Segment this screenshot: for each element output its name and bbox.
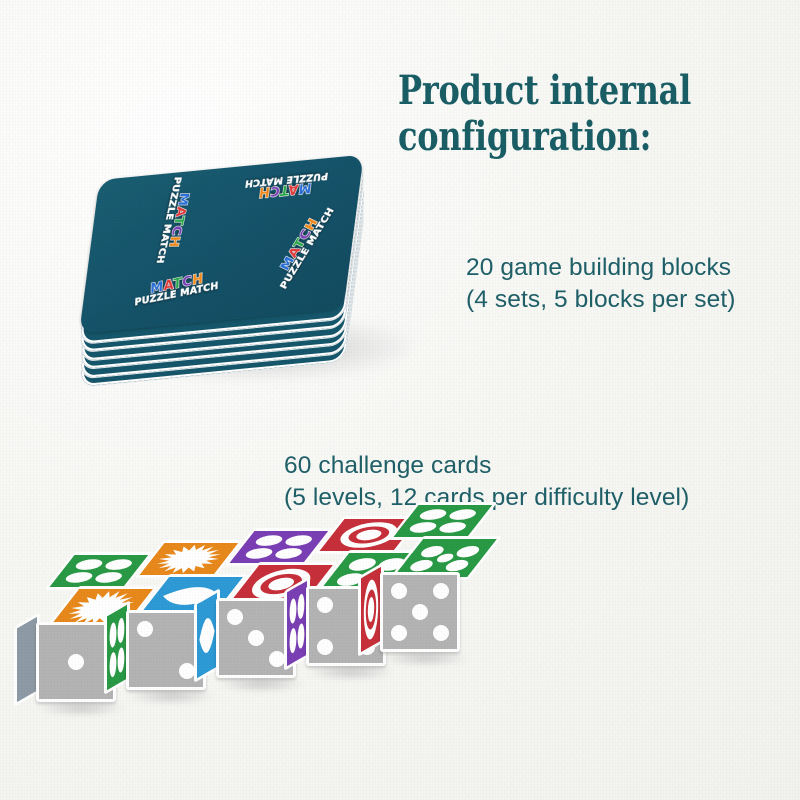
die-pip xyxy=(391,583,407,599)
die-pip xyxy=(317,597,333,613)
logo-right: MATCHPUZZLE MATCH xyxy=(270,202,336,291)
die-pips xyxy=(45,631,107,693)
die-pip xyxy=(68,654,84,670)
die-pips xyxy=(135,619,197,681)
die-pip xyxy=(317,639,333,655)
logo-top: MATCHPUZZLE MATCH xyxy=(243,170,329,200)
blocks-description: 20 game building blocks (4 sets, 5 block… xyxy=(466,252,800,317)
die-motif-plain xyxy=(17,617,37,703)
die-pip xyxy=(433,625,449,641)
die-motif-clover xyxy=(49,555,148,587)
die-shadow xyxy=(382,650,468,666)
logo-wordmark: MATCH xyxy=(270,202,330,287)
building-blocks-dice-row xyxy=(28,538,458,718)
product-configuration-poster: Product internal configuration: MATCHPUZ… xyxy=(0,0,800,800)
die-shadow xyxy=(308,664,394,680)
die-motif-starburst xyxy=(139,543,238,575)
die-motif-clover xyxy=(107,605,127,691)
logo-left: MATCHPUZZLE MATCH xyxy=(154,177,193,264)
die-pip xyxy=(391,625,407,641)
die-pips xyxy=(225,607,287,669)
cards-description: 60 challenge cards (5 levels, 12 cards p… xyxy=(284,450,784,515)
die-pip xyxy=(433,583,449,599)
die-motif-lens xyxy=(197,593,217,679)
die-pip xyxy=(269,651,285,667)
die-pip xyxy=(248,630,264,646)
die-motif-clover xyxy=(229,531,328,563)
page-title: Product internal configuration: xyxy=(398,68,712,161)
die-motif-clover xyxy=(287,581,307,667)
die-front-face xyxy=(380,572,460,652)
die-pips xyxy=(389,581,451,643)
card-deck: MATCHPUZZLE MATCHMATCHPUZZLE MATCHMATCHP… xyxy=(77,152,396,353)
die-shadow xyxy=(38,700,124,716)
die-pip xyxy=(412,604,428,620)
die-shadow xyxy=(128,688,214,704)
die-shadow xyxy=(218,676,304,692)
logo-bottom: MATCHPUZZLE MATCH xyxy=(134,270,218,309)
die-pip xyxy=(137,621,153,637)
die-pip xyxy=(179,663,195,679)
card-stack-image: MATCHPUZZLE MATCHMATCHPUZZLE MATCHMATCHP… xyxy=(86,168,446,398)
card-top: MATCHPUZZLE MATCHMATCHPUZZLE MATCHMATCHP… xyxy=(79,155,364,334)
die-pip xyxy=(227,609,243,625)
building-block-die-5 xyxy=(380,546,466,632)
die-motif-target xyxy=(361,567,381,653)
